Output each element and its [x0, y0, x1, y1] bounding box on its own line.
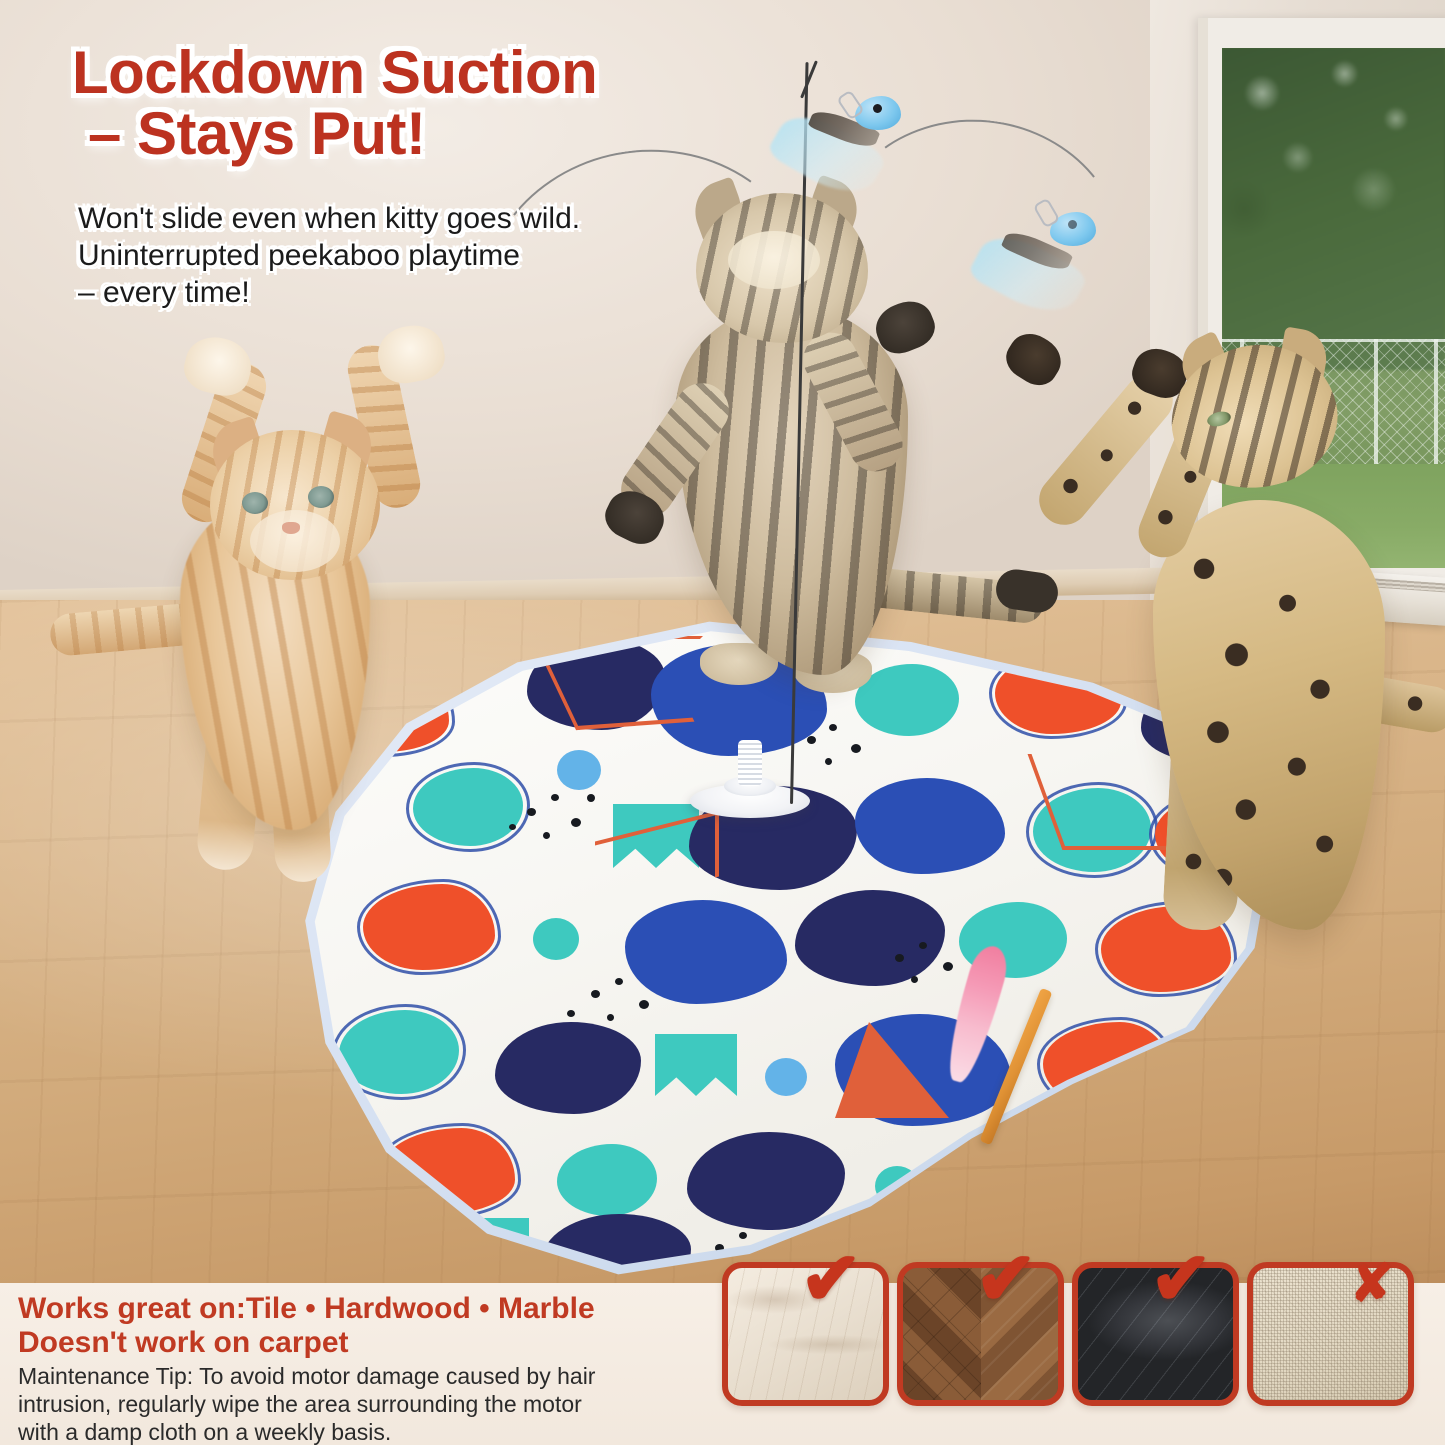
- ginger-kitten: [60, 330, 480, 850]
- subheadline: Won't slide even when kitty goes wild. U…: [78, 200, 718, 312]
- maintenance-line-2: intrusion, regularly wipe the area surro…: [18, 1390, 698, 1418]
- bird-eye-icon: [873, 104, 882, 113]
- subhead-line-3: – every time!: [78, 274, 718, 311]
- product-marketing-image: Lockdown Suction – Stays Put! Won't slid…: [0, 0, 1445, 1445]
- subhead-line-1: Won't slide even when kitty goes wild.: [78, 200, 718, 237]
- maintenance-line-1: Maintenance Tip: To avoid motor damage c…: [18, 1362, 698, 1390]
- headline-line-2: – Stays Put!: [88, 103, 772, 164]
- bengal-cat: [985, 300, 1445, 960]
- maintenance-line-3: with a damp cloth on a weekly basis.: [18, 1418, 698, 1445]
- hub-stem: [738, 740, 762, 786]
- check-icon-hardwood: ✔: [975, 1242, 1037, 1316]
- works-great-line: Works great on:Tile • Hardwood • Marble: [18, 1292, 718, 1326]
- doesnt-work-line: Doesn't work on carpet: [18, 1326, 718, 1360]
- bird-eye-icon: [1068, 220, 1077, 229]
- check-icon-marble: ✔: [1150, 1242, 1212, 1316]
- cross-icon-carpet: ✘: [1350, 1258, 1394, 1310]
- page-title: Lockdown Suction – Stays Put!: [72, 42, 772, 164]
- check-icon-tile: ✔: [800, 1242, 862, 1316]
- maintenance-tip: Maintenance Tip: To avoid motor damage c…: [18, 1362, 698, 1445]
- headline-line-1: Lockdown Suction: [72, 39, 597, 106]
- compatibility-headline: Works great on:Tile • Hardwood • Marble …: [18, 1292, 718, 1360]
- subhead-line-2: Uninterrupted peekaboo playtime: [78, 237, 718, 274]
